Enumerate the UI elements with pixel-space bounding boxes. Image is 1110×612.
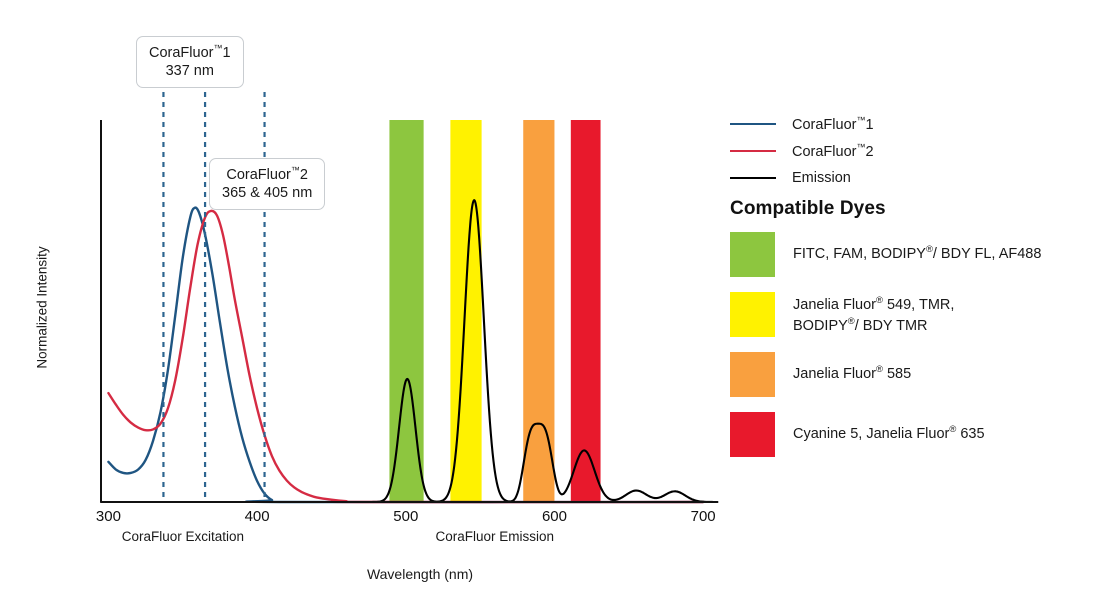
- dye-label: Cyanine 5, Janelia Fluor® 635: [793, 412, 985, 444]
- legend-item-emission: Emission: [730, 164, 1100, 191]
- callout-corafluor1-line2: 337 nm: [149, 62, 231, 80]
- green-band: [389, 120, 423, 502]
- red-band: [571, 120, 601, 502]
- callout-corafluor1: CoraFluor™1 337 nm: [136, 36, 244, 88]
- legend-item-corafluor1: CoraFluor™1: [730, 110, 1100, 137]
- dye-color-swatch: [730, 352, 775, 397]
- chart-root: Normalized Intensity Wavelength (nm) 300…: [0, 0, 1110, 612]
- dye-label: FITC, FAM, BODIPY®/ BDY FL, AF488: [793, 232, 1041, 264]
- compatible-dyes-list: FITC, FAM, BODIPY®/ BDY FL, AF488Janelia…: [730, 232, 1110, 472]
- dye-label-line: Janelia Fluor® 585: [793, 363, 911, 384]
- dye-label: Janelia Fluor® 585: [793, 352, 911, 384]
- legend-item-label: CoraFluor™2: [792, 142, 874, 160]
- dye-label: Janelia Fluor® 549, TMR,BODIPY®/ BDY TMR: [793, 292, 954, 337]
- callout-corafluor1-line1: CoraFluor™1: [149, 43, 231, 62]
- y-axis-title: Normalized Intensity: [35, 233, 50, 383]
- section-label-corafluor-emission: CoraFluor Emission: [435, 529, 554, 544]
- series-legend: CoraFluor™1CoraFluor™2Emission: [730, 110, 1100, 191]
- x-axis-title: Wavelength (nm): [270, 566, 570, 582]
- dye-item-0: FITC, FAM, BODIPY®/ BDY FL, AF488: [730, 232, 1110, 277]
- dye-label-line: Cyanine 5, Janelia Fluor® 635: [793, 423, 985, 444]
- x-tick-label-500: 500: [376, 508, 436, 525]
- legend-panel: CoraFluor™1CoraFluor™2Emission Compatibl…: [730, 0, 1110, 612]
- dye-item-1: Janelia Fluor® 549, TMR,BODIPY®/ BDY TMR: [730, 292, 1110, 337]
- legend-item-corafluor2: CoraFluor™2: [730, 137, 1100, 164]
- legend-line-swatch: [730, 123, 776, 125]
- dye-label-line: BODIPY®/ BDY TMR: [793, 315, 954, 336]
- dye-item-3: Cyanine 5, Janelia Fluor® 635: [730, 412, 1110, 457]
- legend-line-swatch: [730, 177, 776, 179]
- spectra-chart: Normalized Intensity Wavelength (nm) 300…: [0, 0, 730, 612]
- section-label-corafluor-excitation: CoraFluor Excitation: [122, 529, 244, 544]
- legend-item-label: Emission: [792, 170, 851, 186]
- legend-item-label: CoraFluor™1: [792, 115, 874, 133]
- compatible-dyes-heading: Compatible Dyes: [730, 198, 886, 220]
- dye-item-2: Janelia Fluor® 585: [730, 352, 1110, 397]
- dye-label-line: FITC, FAM, BODIPY®/ BDY FL, AF488: [793, 243, 1041, 264]
- x-tick-label-600: 600: [524, 508, 584, 525]
- x-tick-label-700: 700: [673, 508, 733, 525]
- dye-color-swatch: [730, 292, 775, 337]
- x-tick-label-300: 300: [78, 508, 138, 525]
- dye-color-swatch: [730, 412, 775, 457]
- callout-corafluor2-line2: 365 & 405 nm: [222, 184, 312, 202]
- x-tick-label-400: 400: [227, 508, 287, 525]
- callout-corafluor2-line1: CoraFluor™2: [222, 165, 312, 184]
- dye-color-swatch: [730, 232, 775, 277]
- dye-label-line: Janelia Fluor® 549, TMR,: [793, 294, 954, 315]
- callout-corafluor2: CoraFluor™2 365 & 405 nm: [209, 158, 325, 210]
- legend-line-swatch: [730, 150, 776, 152]
- yellow-band: [450, 120, 481, 502]
